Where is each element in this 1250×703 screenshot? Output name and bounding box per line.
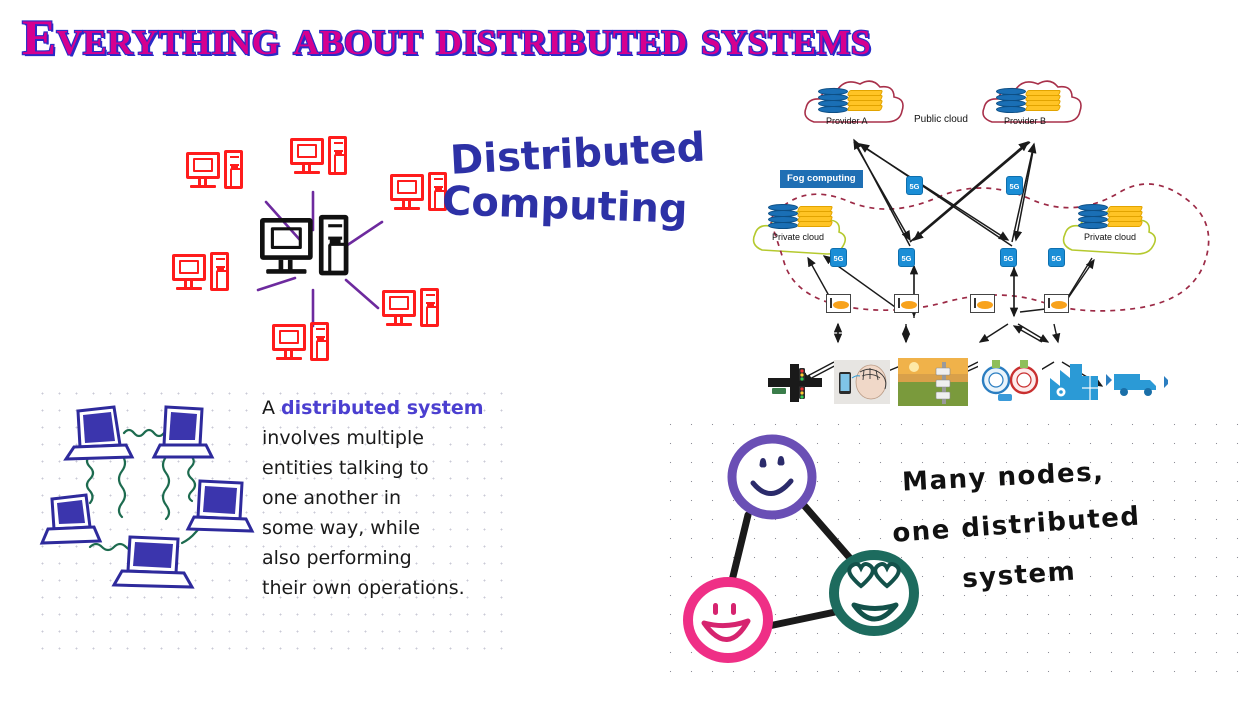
edge-node-3 [970,294,995,313]
gateway-5g-1: 5G [906,176,923,195]
label-fog-computing: Fog computing [780,170,863,188]
monitor-icon [390,174,424,201]
node-purple [732,439,812,515]
many-nodes-panel: Many nodes, one distributed system [660,415,1240,680]
page-title: Everything about distributed systems [22,6,1250,68]
gateway-5g-5: 5G [1000,248,1017,267]
notebook-definition-panel: A distributed system involves multiple e… [34,385,504,660]
smart-water-meters-icon [978,358,1042,404]
fog-computing-diagram: Provider A Provider B Public cloud Fog c… [742,80,1242,410]
logistics-truck-icon [1098,366,1168,400]
monitor-base [294,171,320,174]
definition-highlight: distributed system [281,397,483,419]
heading-line-2: Computing [441,175,713,236]
definition-line-3: entities talking to [262,457,429,479]
monitor-base [394,207,420,210]
star-network-illustration [150,130,470,380]
monitor-base [176,287,202,290]
laptop-5 [114,537,192,587]
laptop-1 [66,407,132,459]
title-banner: Everything about distributed systems [0,0,1250,72]
label-provider-a: Provider A [826,116,868,126]
monitor-base [276,357,302,360]
database-icon-private-left [768,204,798,230]
definition-line-7: their own operations. [262,577,465,599]
definition-line-5: some way, while [262,517,420,539]
monitor-base [266,269,306,274]
gateway-5g-3: 5G [830,248,847,267]
laptop-2 [154,407,212,457]
definition-line-6: also performing [262,547,412,569]
database-icon-provider-b [996,88,1026,114]
database-icon-private-right [1078,204,1108,230]
monitor-icon [382,290,416,317]
label-private-cloud-left: Private cloud [772,232,824,242]
edge-node-4 [1044,294,1069,313]
disk-stack-icon-private-left [798,206,832,230]
definition-line-2: involves multiple [262,427,424,449]
disk-stack-icon-provider-a [848,90,882,114]
disk-stack-icon-provider-b [1026,90,1060,114]
monitor-icon [186,152,220,179]
laptop-4 [188,481,252,531]
database-icon-provider-a [818,88,848,114]
gateway-5g-6: 5G [1048,248,1065,267]
monitor-icon [272,324,306,351]
traffic-intersection-icon [766,362,826,404]
monitor-base [190,185,216,188]
slide-canvas: Everything about distributed systems [0,0,1250,703]
smart-agriculture-sensor-icon [898,358,968,406]
monitor-base [386,323,412,326]
gateway-5g-4: 5G [898,248,915,267]
disk-stack-icon-private-right [1108,206,1142,230]
tower-icon [319,215,348,275]
label-public-cloud: Public cloud [914,114,968,125]
many-nodes-caption: Many nodes, one distributed system [892,450,1232,594]
tower-icon [310,322,329,361]
edge-node-1 [826,294,851,313]
tower-icon [328,136,347,175]
monitor-icon [290,138,324,165]
gateway-5g-2: 5G [1006,176,1023,195]
definition-text: A distributed system involves multiple e… [262,393,502,603]
tower-icon [224,150,243,189]
label-private-cloud-right: Private cloud [1084,232,1136,242]
monitor-icon [260,218,313,260]
laptop-network-sketch [34,385,284,645]
node-pink [688,582,768,658]
tower-icon [420,288,439,327]
definition-line-4: one another in [262,487,401,509]
tower-icon [210,252,229,291]
label-provider-b: Provider B [1004,116,1046,126]
distributed-computing-heading: Distributed Computing [442,128,712,258]
ehealth-brain-phone-icon [834,360,890,404]
definition-lead: A [262,397,275,419]
edge-node-2 [894,294,919,313]
monitor-icon [172,254,206,281]
smart-factory-icon [1048,360,1100,402]
